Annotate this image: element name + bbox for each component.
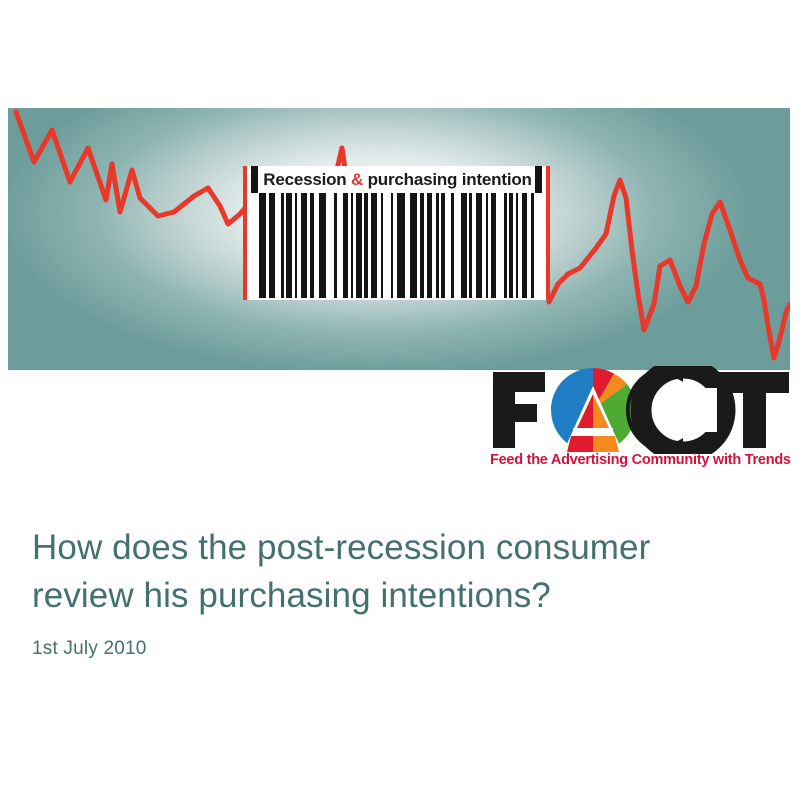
page-title-line-1: How does the post-recession consumer — [32, 528, 650, 567]
barcode-label-after: purchasing intention — [363, 170, 532, 189]
fact-logo-mark — [487, 366, 793, 454]
logo-letter-a-wheel — [551, 368, 636, 452]
page-date: 1st July 2010 — [32, 638, 762, 660]
barcode-right-accent-bar — [546, 166, 550, 300]
logo-letter-f — [493, 372, 545, 448]
barcode-left-accent-bar — [243, 166, 247, 300]
barcode-label-before: Recession — [263, 170, 351, 189]
barcode-bars — [251, 193, 542, 298]
trendline-right — [549, 180, 790, 358]
barcode-label-ampersand: & — [351, 170, 363, 189]
title-block: How does the post-recession consumer rev… — [32, 524, 762, 660]
barcode-graphic: Recession & purchasing intention — [243, 166, 550, 300]
barcode-label: Recession & purchasing intention — [263, 169, 532, 191]
fact-logo: Feed the Advertising Community with Tren… — [487, 366, 793, 478]
page-title-line-2: review his purchasing intentions? — [32, 576, 551, 615]
page-title: How does the post-recession consumer rev… — [32, 524, 762, 620]
logo-tagline: Feed the Advertising Community with Tren… — [490, 452, 793, 468]
